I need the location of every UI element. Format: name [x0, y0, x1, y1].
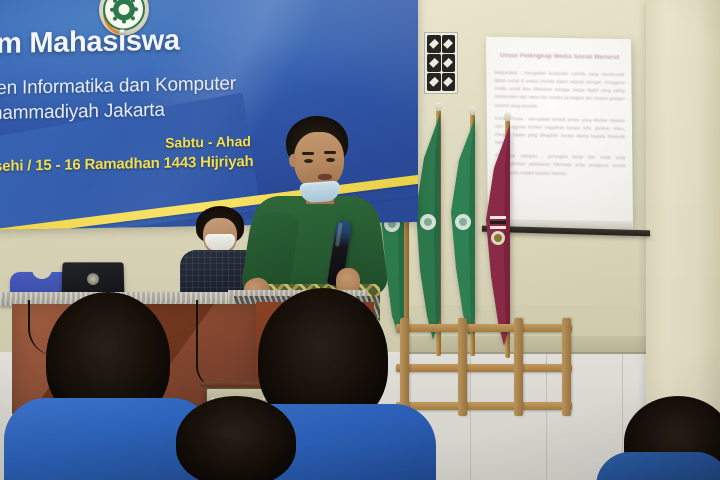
audio-cable	[196, 300, 218, 388]
flag-pole-finial-icon	[469, 106, 476, 115]
audience-head	[176, 396, 296, 480]
speaker-eyebrow	[324, 151, 336, 154]
speaker-eye	[326, 158, 335, 162]
speaker-eye	[304, 159, 313, 163]
audience-shirt	[596, 452, 720, 480]
laptop-logo-icon	[87, 273, 99, 285]
speaker-mouth	[318, 174, 332, 180]
flag-pole-finial-icon	[504, 112, 511, 121]
flag-pole-finial-icon	[435, 102, 442, 111]
seminar-photo: Unsur Pelengkap Media Sosial Menurut Mas…	[0, 0, 720, 480]
rosette-ventilation-block-icon	[424, 32, 458, 94]
wooden-flag-stand	[396, 318, 572, 422]
speaker-ear	[289, 154, 297, 167]
speaker-eyebrow	[302, 152, 314, 155]
slide-paragraph: Masyarakat : merupakan kumpulan individu…	[494, 69, 624, 112]
